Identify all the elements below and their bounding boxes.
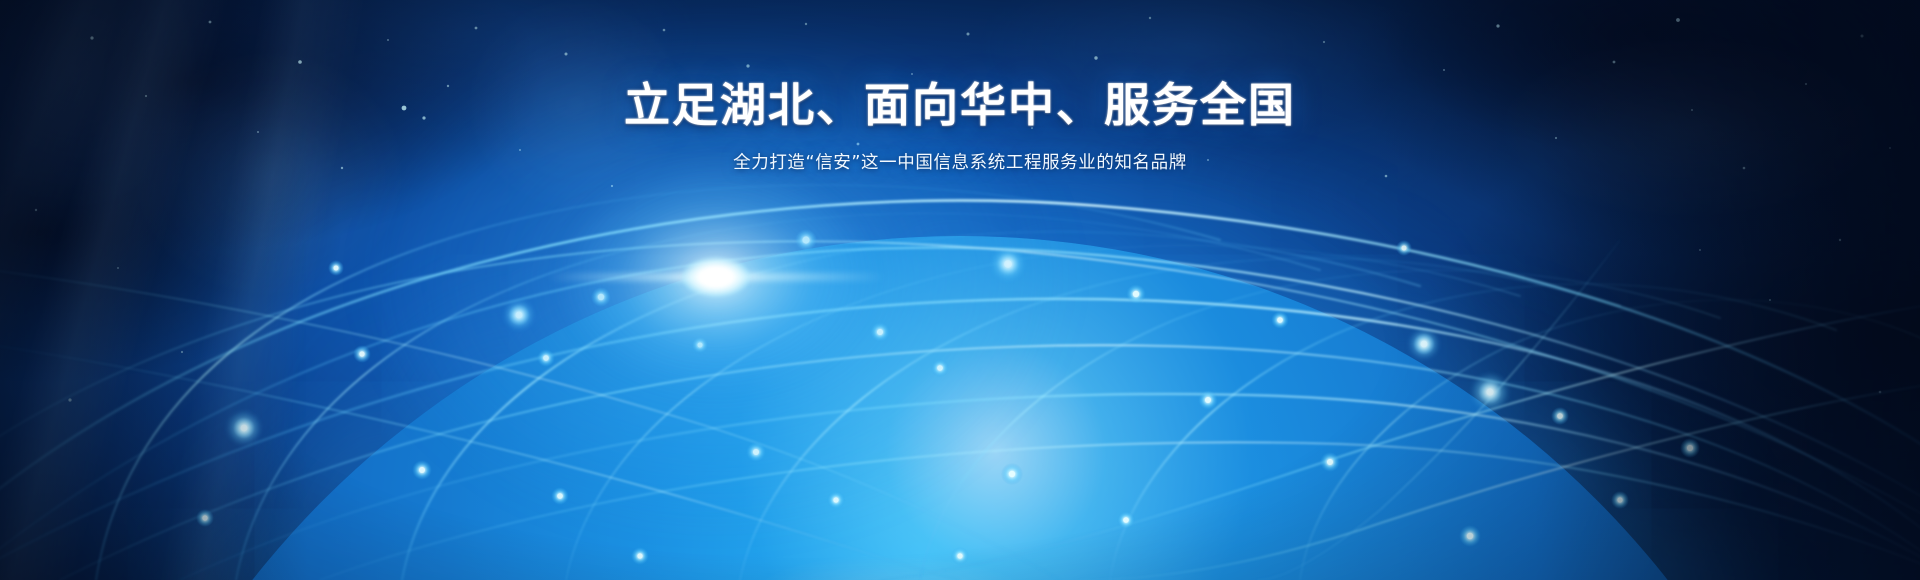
banner-headline: 立足湖北、面向华中、服务全国 bbox=[0, 76, 1920, 134]
flare-core bbox=[682, 257, 750, 297]
banner-text-block: 立足湖北、面向华中、服务全国 全力打造“信安”这一中国信息系统工程服务业的知名品… bbox=[0, 76, 1920, 176]
banner-subheadline: 全力打造“信安”这一中国信息系统工程服务业的知名品牌 bbox=[0, 150, 1920, 176]
hero-banner: 立足湖北、面向华中、服务全国 全力打造“信安”这一中国信息系统工程服务业的知名品… bbox=[0, 0, 1920, 580]
